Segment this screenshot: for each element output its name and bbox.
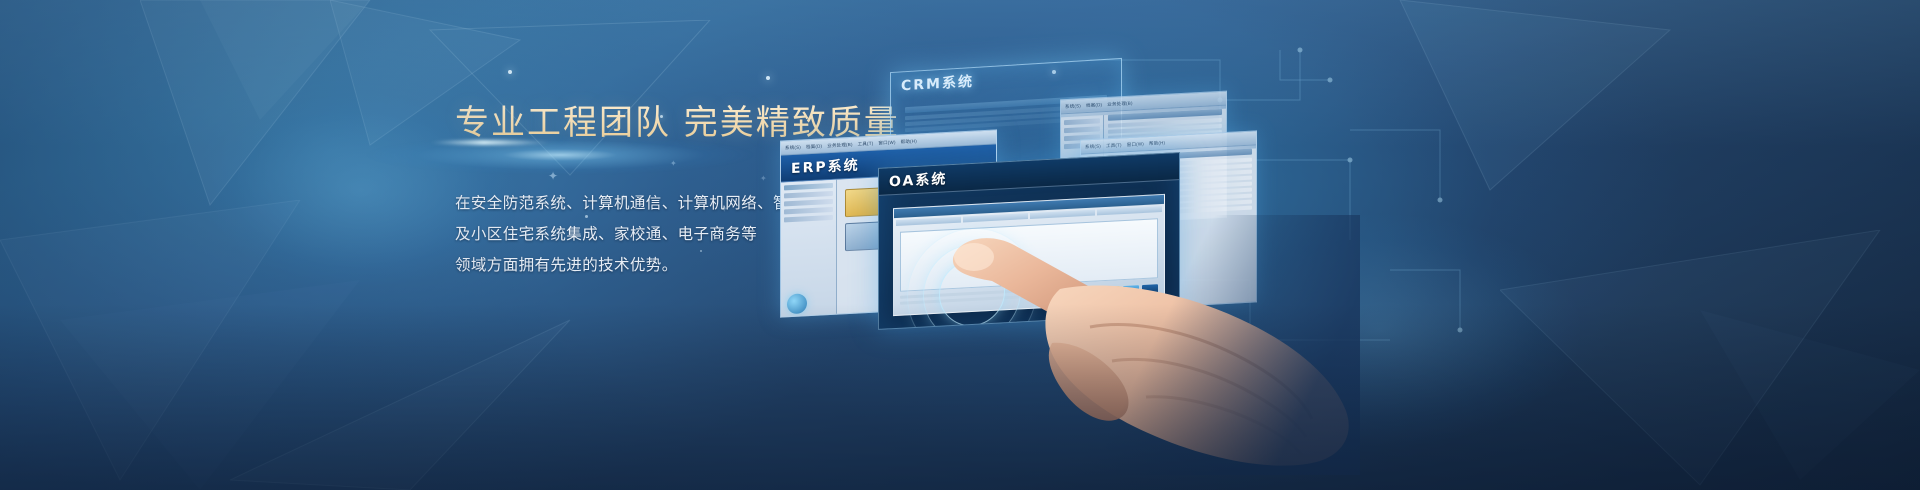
menu-item[interactable]: 窗口(W) xyxy=(878,139,895,146)
menu-item[interactable]: 帮助(H) xyxy=(1149,140,1165,147)
menu-item[interactable]: 工具(T) xyxy=(1106,142,1122,149)
menu-item[interactable]: 系统(S) xyxy=(1085,143,1101,150)
polygon-shard-7 xyxy=(1500,230,1920,490)
document-icon[interactable] xyxy=(845,221,881,251)
erp-title: ERP系统 xyxy=(791,155,860,179)
polygon-shard-5 xyxy=(230,300,590,490)
menu-item[interactable]: 工具(T) xyxy=(858,140,874,147)
menu-item[interactable]: 系统(S) xyxy=(785,144,801,151)
sparkle-dot xyxy=(508,70,512,74)
hero-banner: ✦ ✦ ✦ ✦ ✦ 专业工程团队 完美精致质量 在安全防范系统、计算机通信、计算… xyxy=(0,0,1920,490)
crm-title: CRM系统 xyxy=(901,71,974,95)
menu-item[interactable]: 业务处理(B) xyxy=(1107,100,1132,107)
menu-item[interactable]: 业务处理(B) xyxy=(827,141,852,148)
menu-item[interactable]: 档案(D) xyxy=(1086,102,1102,109)
folder-icon[interactable] xyxy=(845,187,881,217)
menu-item[interactable]: 系统(S) xyxy=(1065,103,1081,110)
oa-title: OA系统 xyxy=(889,168,947,191)
menu-item[interactable]: 窗口(W) xyxy=(1127,141,1144,148)
menu-item[interactable]: 档案(D) xyxy=(806,143,822,150)
menu-item[interactable]: 帮助(H) xyxy=(901,138,917,145)
pointing-hand-illustration xyxy=(940,215,1360,475)
